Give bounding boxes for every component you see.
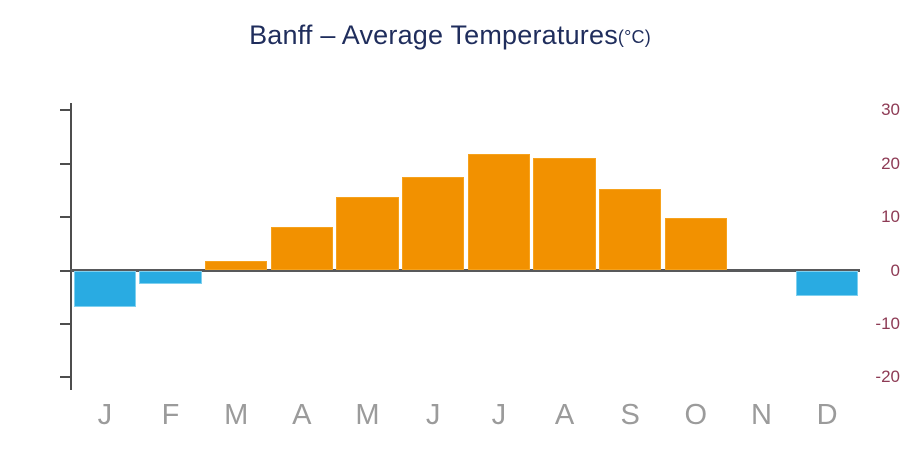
- bar-july[interactable]: [468, 154, 531, 270]
- bar-march[interactable]: [205, 261, 268, 271]
- x-axis-label-september: S: [599, 398, 662, 432]
- x-axis-label-october: O: [665, 398, 728, 432]
- x-axis-label-april: A: [271, 398, 334, 432]
- x-axis-label-december: D: [796, 398, 859, 432]
- y-axis-label: 0: [856, 262, 900, 279]
- x-axis-label-june: J: [402, 398, 465, 432]
- bar-may[interactable]: [336, 197, 399, 270]
- x-axis-label-may: M: [336, 398, 399, 432]
- bar-october[interactable]: [665, 218, 728, 271]
- y-axis-tick: [60, 323, 71, 325]
- y-axis-tick: [60, 163, 71, 165]
- y-axis-tick: [60, 376, 71, 378]
- x-axis-label-february: F: [139, 398, 202, 432]
- bar-june[interactable]: [402, 177, 465, 271]
- x-axis-label-july: J: [468, 398, 531, 432]
- bar-august[interactable]: [533, 158, 596, 270]
- y-axis-tick: [60, 109, 71, 111]
- temperature-bar-chart: Banff – Average Temperatures(°C) 3020100…: [0, 0, 900, 450]
- y-axis-label: 20: [856, 155, 900, 172]
- y-axis-label: -20: [856, 368, 900, 385]
- y-axis-label: 30: [856, 101, 900, 118]
- bar-september[interactable]: [599, 189, 662, 270]
- y-axis-tick: [60, 270, 71, 272]
- x-axis-label-january: J: [74, 398, 137, 432]
- x-axis-label-november: N: [730, 398, 793, 432]
- y-axis-label: -10: [856, 315, 900, 332]
- bar-january[interactable]: [74, 271, 137, 307]
- bar-december[interactable]: [796, 271, 859, 297]
- y-axis-label: 10: [856, 208, 900, 225]
- x-axis-label-march: M: [205, 398, 268, 432]
- bar-february[interactable]: [139, 271, 202, 284]
- y-axis-tick: [60, 216, 71, 218]
- x-axis-label-august: A: [533, 398, 596, 432]
- bars-layer: [72, 0, 860, 450]
- bar-april[interactable]: [271, 227, 334, 271]
